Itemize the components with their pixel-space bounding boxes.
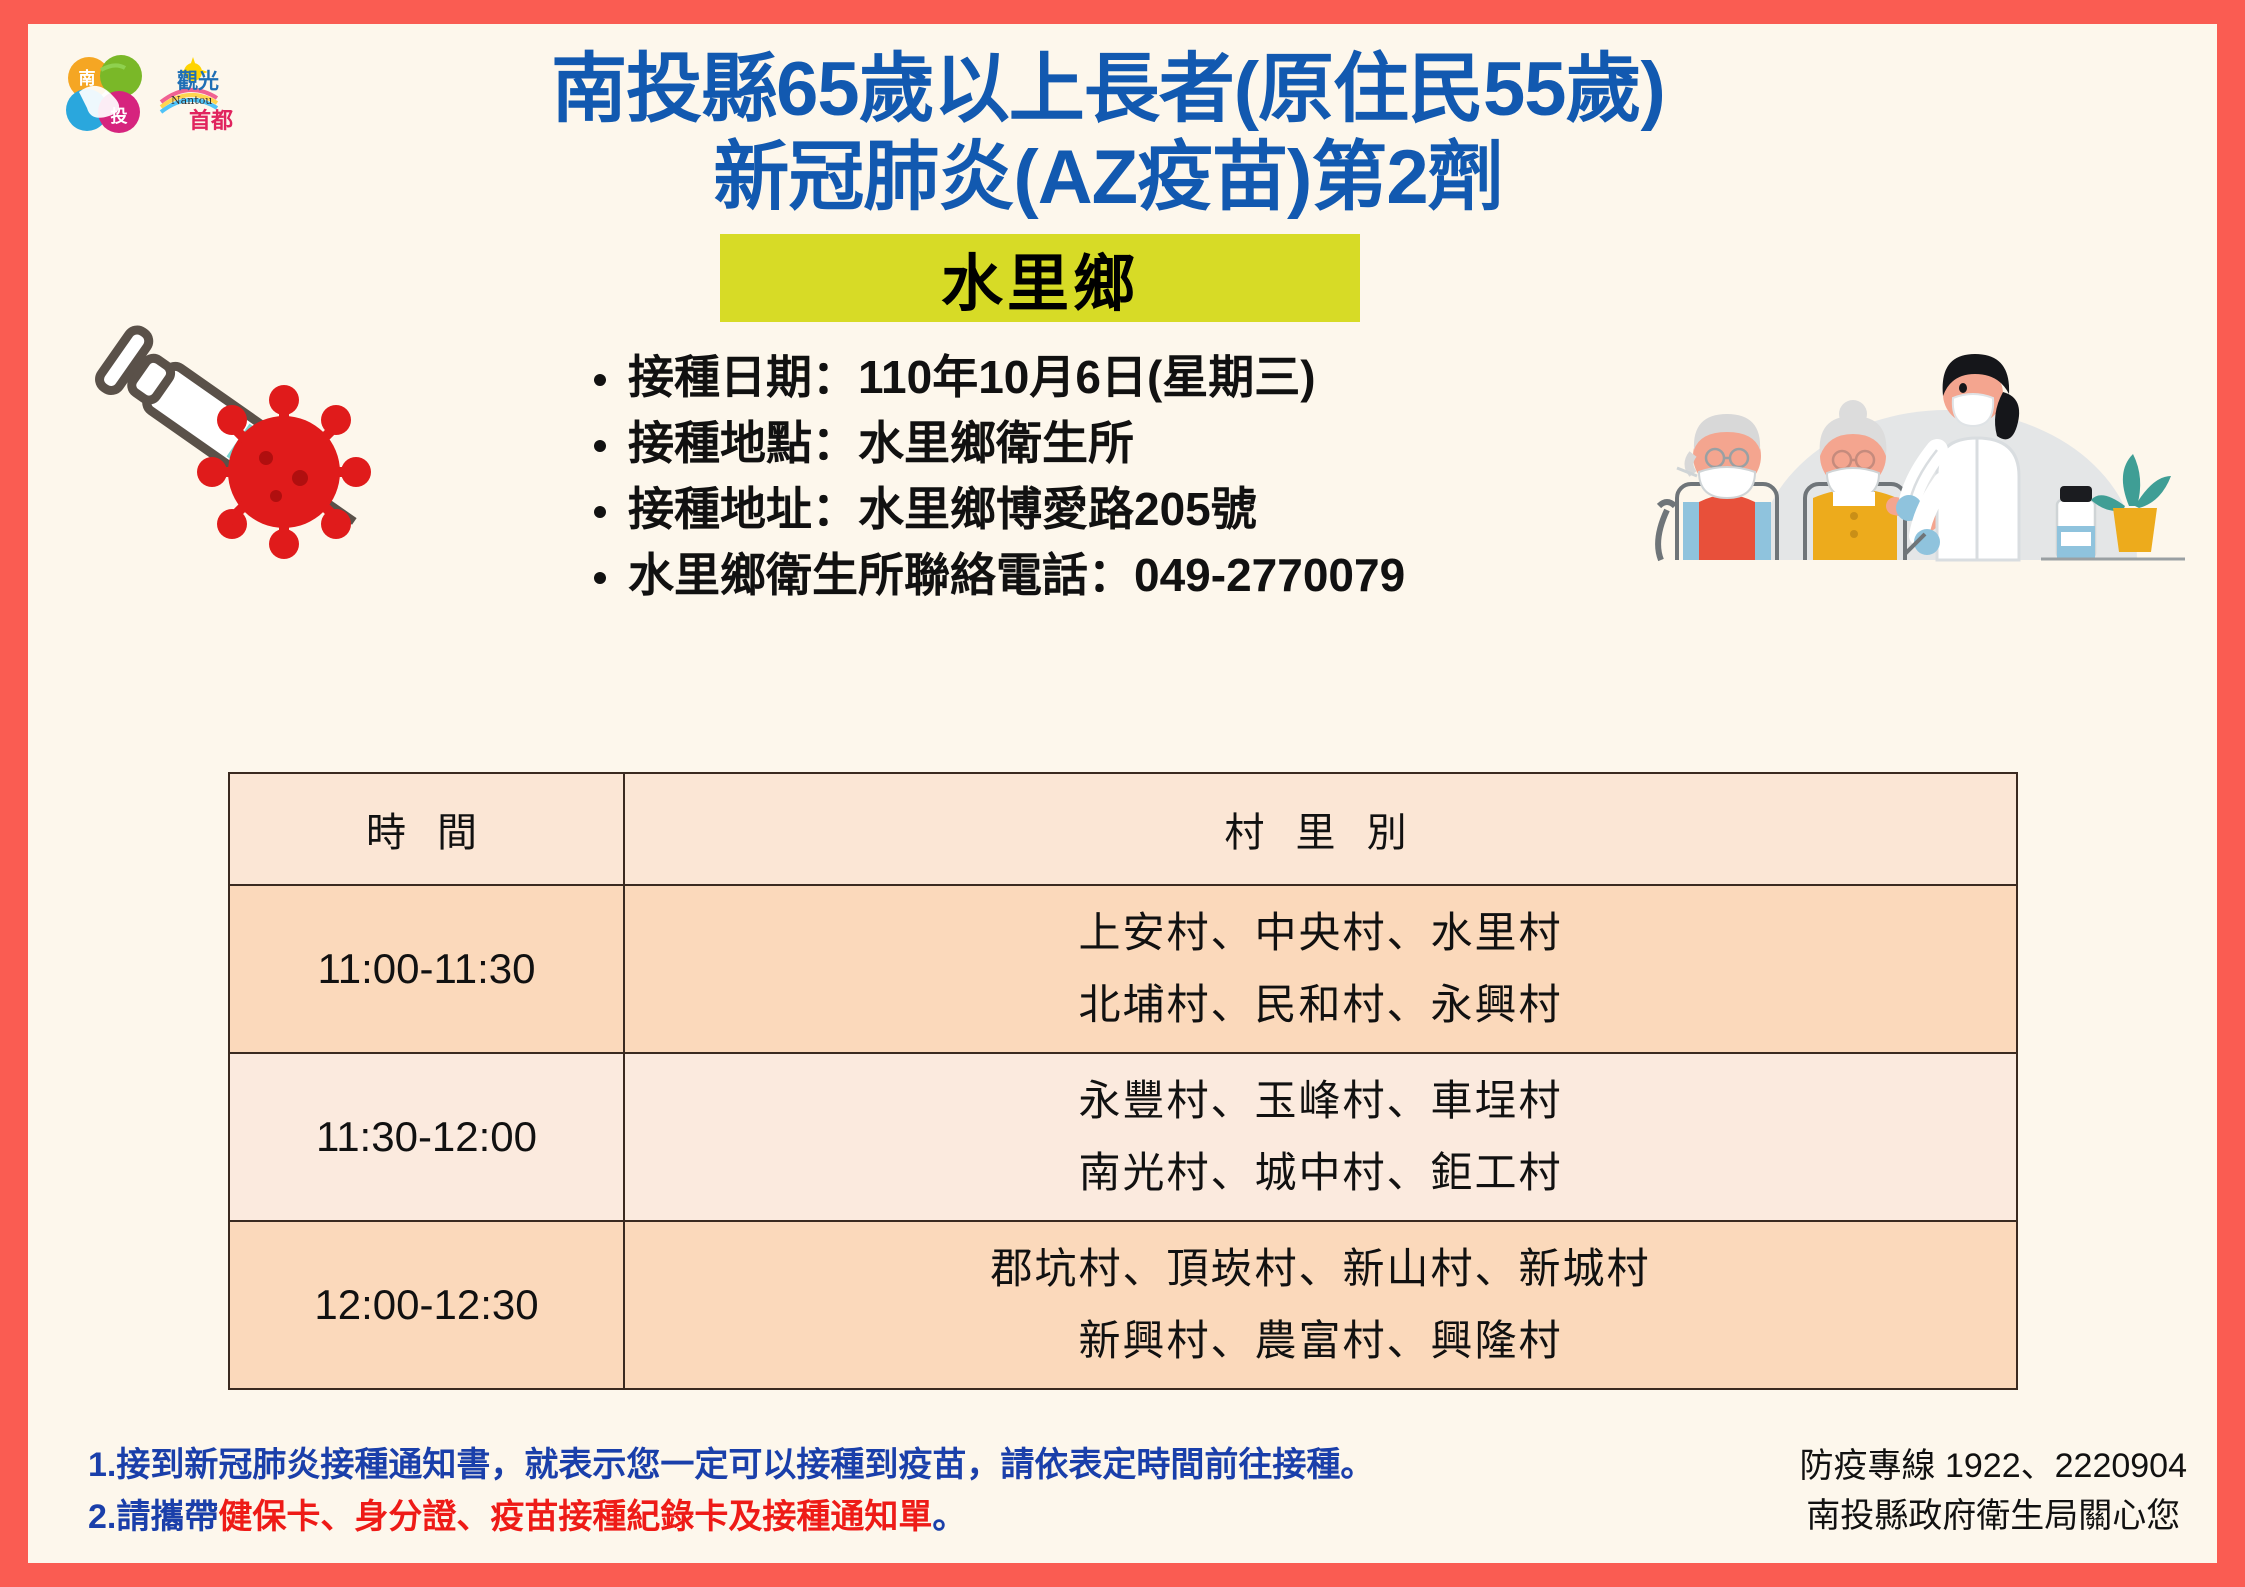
cell-time: 11:00-11:30 <box>229 885 624 1053</box>
note2-highlight: 健保卡、身分證、疫苗接種紀錄卡及接種通知單 <box>218 1498 932 1536</box>
info-area: 接種日期：110年10月6日(星期三) 接種地點：水里鄉衛生所 接種地址：水里鄉… <box>28 330 2217 570</box>
title-line-2: 新冠肺炎(AZ疫苗)第2劑 <box>258 134 1958 222</box>
table-row: 12:00-12:30 郡坑村、頂崁村、新山村、新城村 新興村、農富村、興隆村 <box>229 1221 2017 1389</box>
poster-canvas: 南 投 觀光 Nantou 首都 南投縣65歲以上長者(原住民55歲) 新冠肺炎 <box>28 24 2217 1563</box>
title-line-1: 南投縣65歲以上長者(原住民55歲) <box>258 46 1958 134</box>
column-header-time: 時 間 <box>229 773 624 885</box>
cell-time: 11:30-12:00 <box>229 1053 624 1221</box>
poster-title: 南投縣65歲以上長者(原住民55歲) 新冠肺炎(AZ疫苗)第2劑 <box>258 46 1958 222</box>
schedule-table-wrap: 時 間 村 里 別 11:00-11:30 上安村、中央村、水里村 北埔村、民和… <box>228 772 2018 1390</box>
table-header-row: 時 間 村 里 別 <box>229 773 2017 885</box>
bullet-vaccination-address: 接種地址：水里鄉博愛路205號 <box>588 476 1405 542</box>
cell-villages: 郡坑村、頂崁村、新山村、新城村 新興村、農富村、興隆村 <box>624 1221 2017 1389</box>
note2-prefix: 2.請攜帶 <box>88 1498 218 1536</box>
svg-text:南: 南 <box>79 68 96 89</box>
table-row: 11:30-12:00 永豐村、玉峰村、車埕村 南光村、城中村、鉅工村 <box>229 1053 2017 1221</box>
syringe-virus-icon <box>88 320 428 570</box>
cell-time: 12:00-12:30 <box>229 1221 624 1389</box>
info-bullet-list: 接種日期：110年10月6日(星期三) 接種地點：水里鄉衛生所 接種地址：水里鄉… <box>588 344 1405 608</box>
footer-notes: 1.接到新冠肺炎接種通知書，就表示您一定可以接種到疫苗，請依表定時間前往接種。 … <box>88 1439 1374 1543</box>
footer-note-1: 1.接到新冠肺炎接種通知書，就表示您一定可以接種到疫苗，請依表定時間前往接種。 <box>88 1439 1374 1491</box>
bullet-contact-phone: 水里鄉衛生所聯絡電話：049-2770079 <box>588 542 1405 608</box>
bullet-vaccination-site: 接種地點：水里鄉衛生所 <box>588 410 1405 476</box>
township-label: 水里鄉 <box>941 233 1139 323</box>
poster-header: 南 投 觀光 Nantou 首都 南投縣65歲以上長者(原住民55歲) 新冠肺炎 <box>28 24 2217 234</box>
svg-text:投: 投 <box>111 106 128 127</box>
department-text: 南投縣政府衛生局關心您 <box>1800 1491 2187 1541</box>
elderly-vaccination-scene-icon <box>1637 310 2197 570</box>
footer-contact: 防疫專線 1922、2220904 南投縣政府衛生局關心您 <box>1800 1441 2187 1541</box>
note2-suffix: 。 <box>932 1498 966 1536</box>
svg-text:Nantou: Nantou <box>171 94 212 107</box>
svg-text:首都: 首都 <box>189 108 233 134</box>
cell-villages: 永豐村、玉峰村、車埕村 南光村、城中村、鉅工村 <box>624 1053 2017 1221</box>
bullet-vaccination-date: 接種日期：110年10月6日(星期三) <box>588 344 1405 410</box>
svg-text:觀光: 觀光 <box>177 69 219 93</box>
nantou-tourism-logo: 南 投 觀光 Nantou 首都 <box>61 52 251 142</box>
column-header-village: 村 里 別 <box>624 773 2017 885</box>
hotline-text: 防疫專線 1922、2220904 <box>1800 1441 2187 1491</box>
footer-note-2: 2.請攜帶健保卡、身分證、疫苗接種紀錄卡及接種通知單。 <box>88 1491 1374 1543</box>
poster-footer: 1.接到新冠肺炎接種通知書，就表示您一定可以接種到疫苗，請依表定時間前往接種。 … <box>28 1439 2217 1549</box>
cell-villages: 上安村、中央村、水里村 北埔村、民和村、永興村 <box>624 885 2017 1053</box>
schedule-table: 時 間 村 里 別 11:00-11:30 上安村、中央村、水里村 北埔村、民和… <box>228 772 2018 1390</box>
table-row: 11:00-11:30 上安村、中央村、水里村 北埔村、民和村、永興村 <box>229 885 2017 1053</box>
township-chip: 水里鄉 <box>720 234 1360 322</box>
